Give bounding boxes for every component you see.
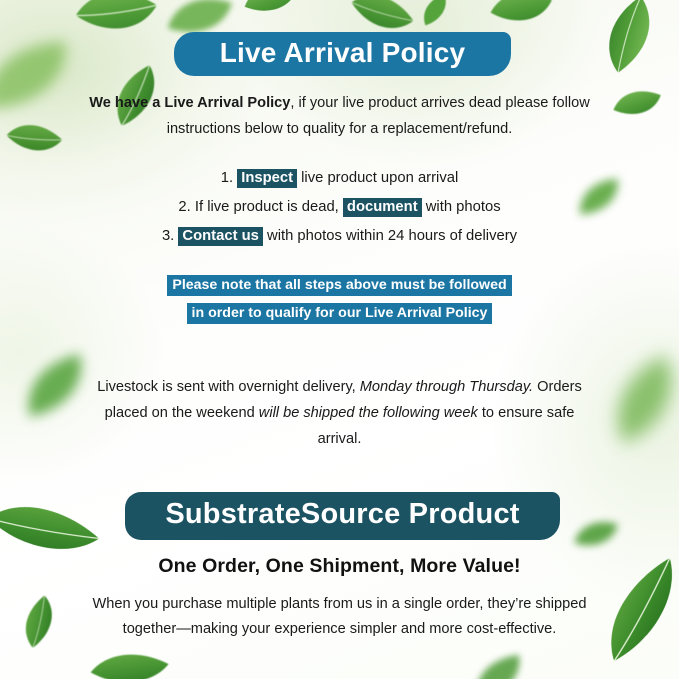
- list-item: 2. If live product is dead, document wit…: [0, 193, 679, 222]
- value-subheading: One Order, One Shipment, More Value!: [0, 555, 679, 578]
- step-number: 1.: [221, 170, 233, 186]
- step-highlight-inspect: Inspect: [237, 169, 297, 188]
- policy-note-line-2: in order to qualify for our Live Arrival…: [0, 302, 679, 324]
- intro-paragraph: We have a Live Arrival Policy, if your l…: [0, 90, 679, 142]
- step-number: 2.: [178, 199, 190, 215]
- step-highlight-contact-us: Contact us: [178, 227, 262, 246]
- shipping-paragraph: Livestock is sent with overnight deliver…: [0, 374, 679, 452]
- policy-note: Please note that all steps above must be…: [0, 274, 679, 330]
- step-text-before: If live product is dead,: [191, 199, 343, 215]
- shipping-emphasis-2: will be shipped the following week: [259, 405, 478, 421]
- outro-paragraph: When you purchase multiple plants from u…: [0, 592, 679, 642]
- step-number: 3.: [162, 228, 174, 244]
- content-layer: Live Arrival Policy We have a Live Arriv…: [0, 0, 679, 679]
- policy-note-line-1: Please note that all steps above must be…: [0, 274, 679, 296]
- shipping-text-1: Livestock is sent with overnight deliver…: [97, 379, 360, 395]
- step-text-after: with photos within 24 hours of delivery: [263, 228, 517, 244]
- step-highlight-document: document: [343, 198, 422, 217]
- policy-note-text-2: in order to qualify for our Live Arrival…: [187, 303, 493, 324]
- list-item: 3. Contact us with photos within 24 hour…: [0, 222, 679, 251]
- step-text-after: live product upon arrival: [297, 170, 458, 186]
- policy-note-text-1: Please note that all steps above must be…: [167, 275, 511, 296]
- steps-list: 1. Inspect live product upon arrival 2. …: [0, 164, 679, 251]
- intro-lead: We have a Live Arrival Policy: [89, 95, 290, 111]
- step-text-after: with photos: [422, 199, 501, 215]
- shipping-emphasis-1: Monday through Thursday.: [360, 379, 533, 395]
- live-arrival-policy-infographic: Live Arrival Policy We have a Live Arriv…: [0, 0, 679, 679]
- list-item: 1. Inspect live product upon arrival: [0, 164, 679, 193]
- substratesource-product-banner: SubstrateSource Product: [125, 492, 560, 540]
- live-arrival-policy-banner: Live Arrival Policy: [174, 32, 511, 76]
